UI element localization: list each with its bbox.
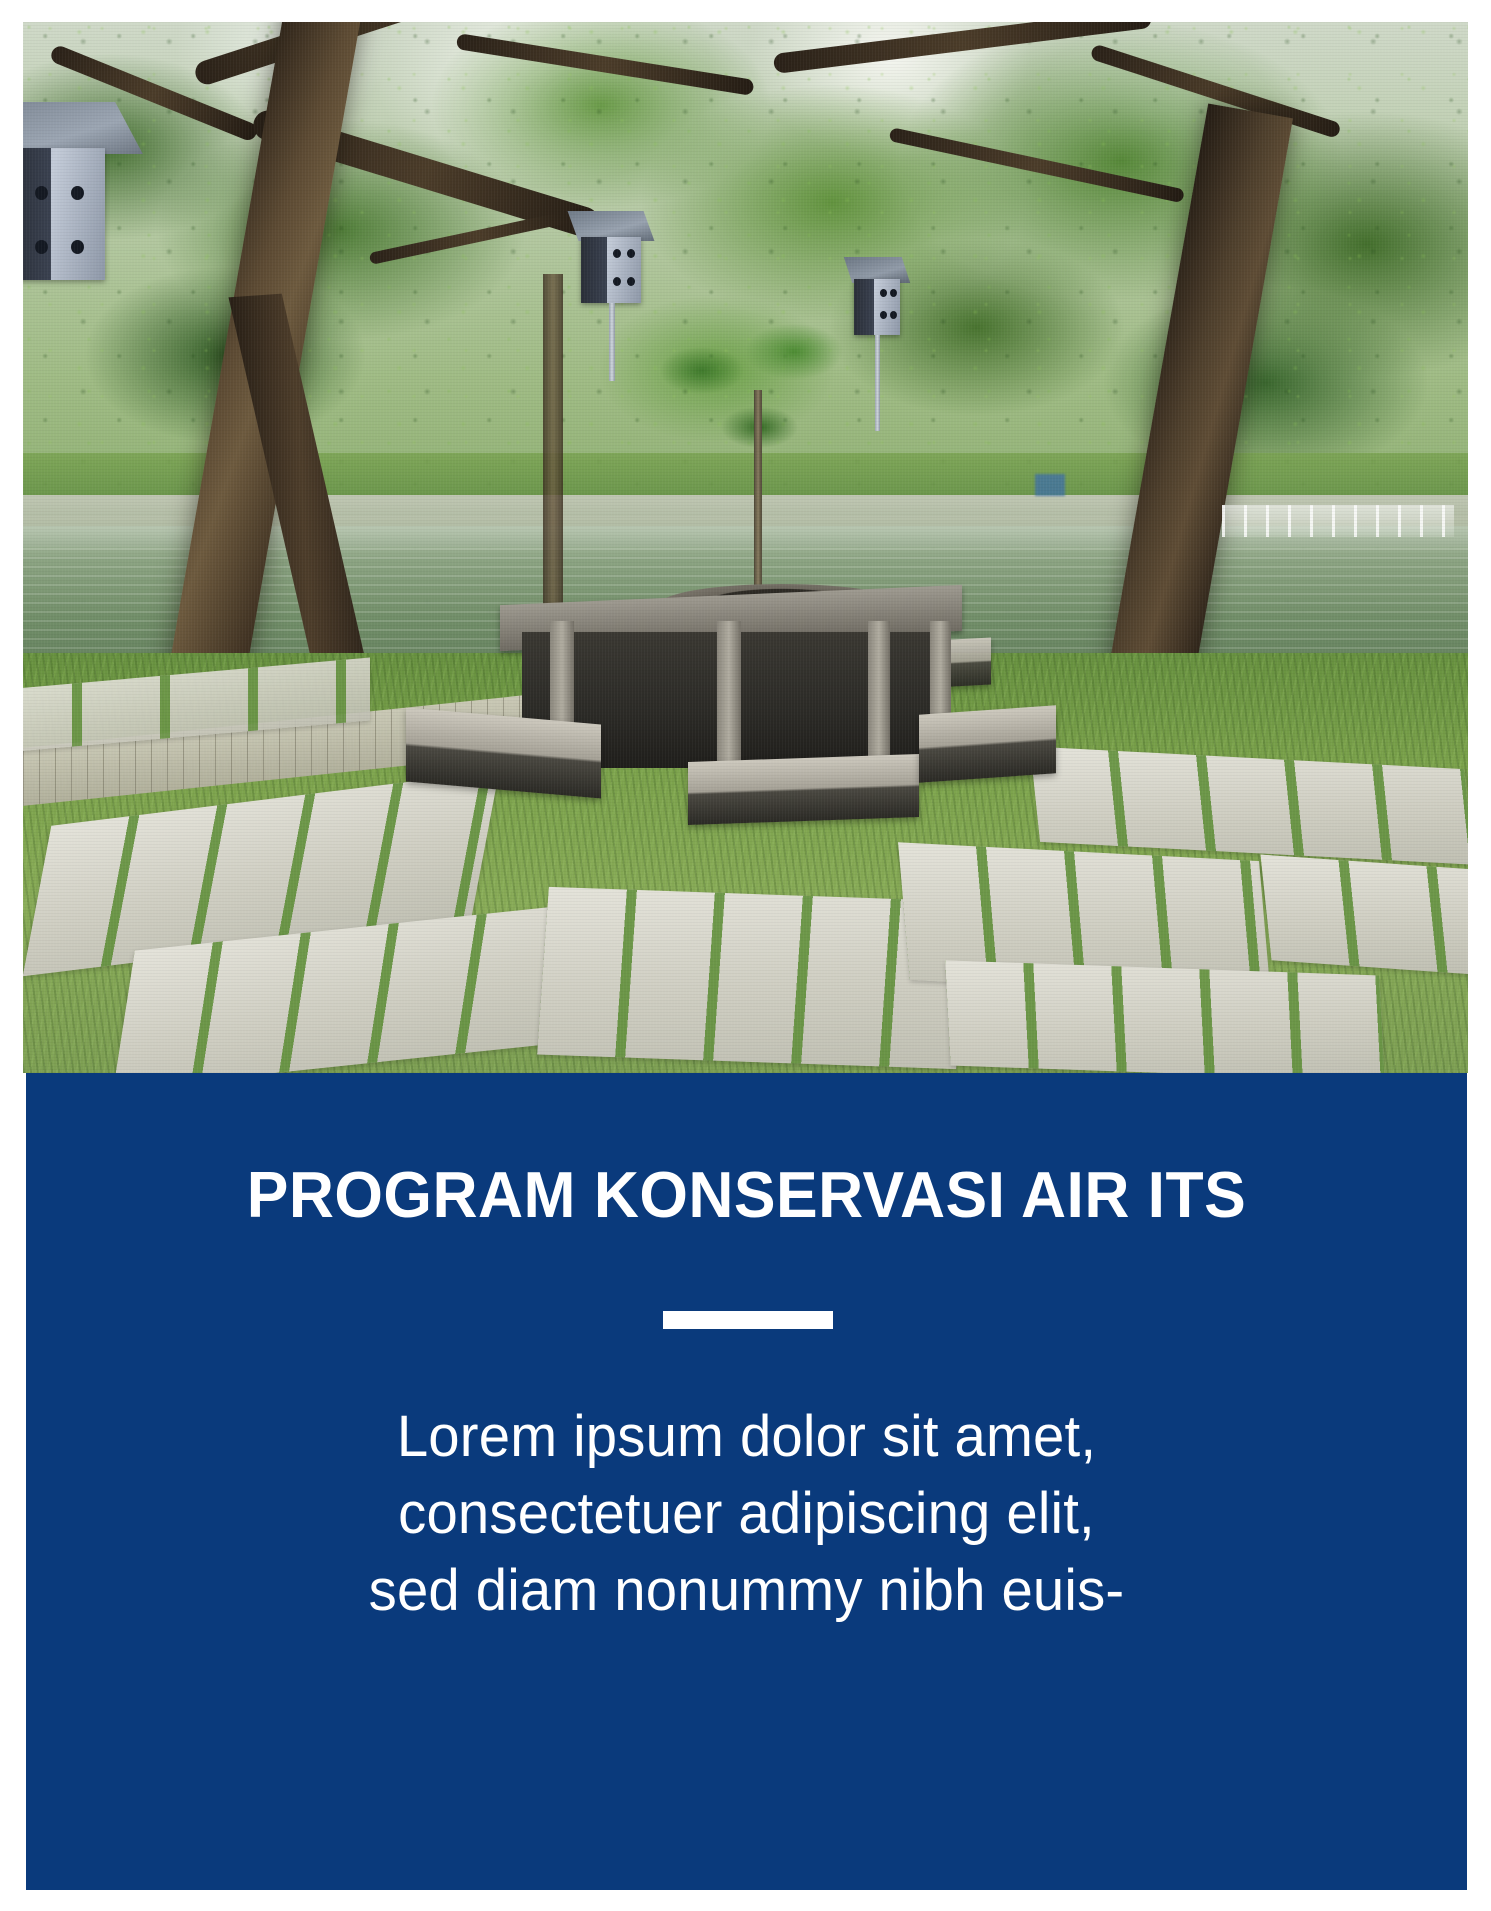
birdhouse-icon: [23, 148, 105, 280]
hero-photo: [23, 22, 1468, 1073]
birdhouse-hole: [35, 240, 48, 254]
stone-bench: [688, 754, 919, 825]
birdhouse-shadow-face: [23, 148, 51, 280]
distant-railing: [1222, 505, 1453, 537]
birdhouse-body: [854, 279, 900, 335]
birdhouse-hole: [890, 311, 897, 319]
title-divider: [663, 1311, 833, 1329]
birdhouse-icon: [581, 237, 641, 303]
slab-grout: [1260, 854, 1468, 976]
birdhouse-hole: [35, 186, 48, 200]
distant-tree-trunk: [543, 274, 563, 631]
body-text: Lorem ipsum dolor sit amet, consectetuer…: [48, 1398, 1446, 1629]
paving-slab: [1260, 854, 1468, 976]
birdhouse-hole: [71, 186, 84, 200]
birdhouse-shadow-face: [854, 279, 874, 335]
page-title: PROGRAM KONSERVASI AIR ITS: [55, 1161, 1438, 1229]
birdhouse-hole: [613, 249, 621, 258]
birdhouse-body: [23, 148, 105, 280]
distant-blue-object: [1035, 474, 1065, 496]
birdhouse-body: [581, 237, 641, 303]
slab-grout: [945, 960, 1384, 1073]
birdhouse-hole: [613, 277, 621, 286]
birdhouse-hole: [880, 289, 887, 297]
stone-table-leg: [868, 621, 890, 768]
birdhouse-hole: [880, 311, 887, 319]
photo-scene: [23, 22, 1468, 1073]
birdhouse-post: [875, 335, 880, 431]
birdhouse-icon: [854, 279, 900, 335]
birdhouse-hole: [71, 240, 84, 254]
stone-bench: [919, 706, 1056, 784]
body-line: consectetuer adipiscing elit,: [48, 1475, 1446, 1552]
body-line: Lorem ipsum dolor sit amet,: [48, 1398, 1446, 1475]
birdhouse-shadow-face: [581, 237, 607, 303]
caption-panel: PROGRAM KONSERVASI AIR ITS Lorem ipsum d…: [26, 1073, 1467, 1890]
birdhouse-hole: [890, 289, 897, 297]
stone-table-leg: [717, 621, 742, 779]
birdhouse-hole: [627, 277, 635, 286]
paving-slab: [945, 960, 1384, 1073]
birdhouse-post: [609, 303, 615, 381]
sapling-trunk: [754, 390, 762, 600]
poster-page: PROGRAM KONSERVASI AIR ITS Lorem ipsum d…: [0, 0, 1491, 1911]
birdhouse-hole: [627, 249, 635, 258]
body-line: sed diam nonummy nibh euis-: [48, 1552, 1446, 1629]
